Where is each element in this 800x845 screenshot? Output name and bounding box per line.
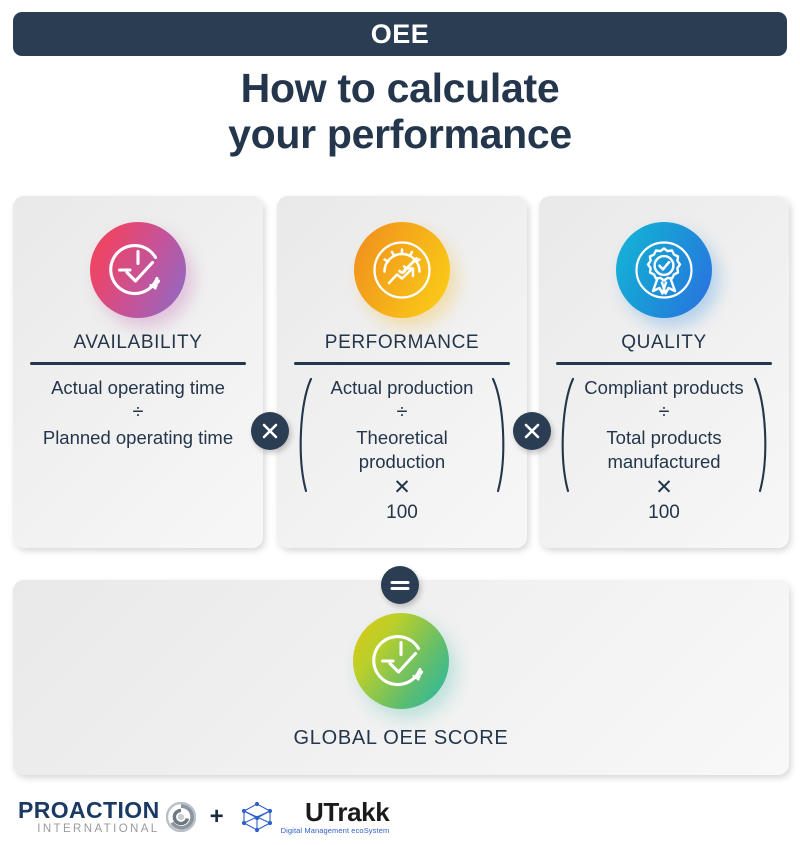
paren-right-icon	[489, 376, 511, 473]
utrakk-tagline: Digital Management ecoSystem	[281, 827, 390, 835]
paren-left-icon	[555, 376, 577, 473]
global-oee-score-label: GLOBAL OEE SCORE	[294, 727, 509, 750]
numerator: Actual production	[331, 376, 474, 399]
multiply-symbol: ✕	[655, 475, 673, 500]
proaction-spiral-icon	[166, 802, 196, 832]
clock-check-icon	[90, 222, 186, 318]
formula-availability: Actual operating time ÷ Planned operatin…	[29, 376, 247, 538]
metric-card-availability: AVAILABILITY Actual operating time ÷ Pla…	[13, 196, 263, 548]
performance-icon-wrap	[347, 214, 457, 326]
multiply-symbol: ✕	[393, 475, 411, 500]
fraction-body: Actual operating time ÷ Planned operatin…	[29, 376, 247, 450]
metric-card-quality: QUALITY Compliant products ÷ Total produ…	[539, 196, 789, 548]
clock-check-icon	[353, 613, 449, 709]
multiply-icon	[522, 421, 542, 441]
card-label-quality: QUALITY	[621, 332, 707, 354]
utrakk-wordmark: UTrakk Digital Management ecoSystem	[281, 799, 390, 835]
divide-symbol: ÷	[659, 399, 670, 426]
card-divider	[30, 362, 246, 365]
numerator: Compliant products	[584, 376, 743, 399]
fraction-body: Actual production ÷ Theoretical producti…	[315, 376, 489, 473]
denominator: Planned operating time	[43, 426, 233, 449]
equals-icon	[389, 577, 411, 593]
fraction-row: Actual production ÷ Theoretical producti…	[293, 376, 511, 473]
multiply-operator-badge-1	[251, 412, 289, 450]
page-headline: How to calculate your performance	[0, 66, 800, 158]
denominator: Theoretical production	[315, 426, 489, 473]
multiplier-value: 100	[386, 501, 418, 525]
card-divider	[294, 362, 510, 365]
multiplier-value: 100	[648, 501, 680, 525]
fraction-row: Compliant products ÷ Total products manu…	[555, 376, 773, 473]
multiply-operator-badge-2	[513, 412, 551, 450]
metric-cards-row: AVAILABILITY Actual operating time ÷ Pla…	[0, 196, 800, 548]
metric-card-performance: PERFORMANCE Actual production ÷ Theoreti…	[277, 196, 527, 548]
quality-icon-wrap	[609, 214, 719, 326]
multiply-icon	[260, 421, 280, 441]
proaction-logo: PROACTION INTERNATIONAL	[18, 799, 196, 836]
formula-quality: Compliant products ÷ Total products manu…	[555, 376, 773, 538]
award-ribbon-check-icon	[616, 222, 712, 318]
paren-right-icon	[751, 376, 773, 473]
proaction-name: PROACTION	[18, 799, 160, 822]
global-icon-wrap	[346, 605, 456, 717]
divide-symbol: ÷	[133, 399, 144, 426]
global-oee-score-card: GLOBAL OEE SCORE	[13, 580, 789, 775]
oee-header-badge: OEE	[13, 12, 787, 56]
fraction-row: Actual operating time ÷ Planned operatin…	[29, 376, 247, 450]
header-title: OEE	[371, 19, 430, 50]
card-label-performance: PERFORMANCE	[325, 332, 479, 354]
card-divider	[556, 362, 772, 365]
denominator: Total products manufactured	[577, 426, 751, 473]
utrakk-logo: UTrakk Digital Management ecoSystem	[238, 799, 390, 835]
equals-operator-badge	[381, 566, 419, 604]
plus-separator: +	[210, 803, 224, 831]
utrakk-name: UTrakk	[305, 799, 389, 825]
numerator: Actual operating time	[51, 376, 225, 399]
availability-icon-wrap	[83, 214, 193, 326]
card-label-availability: AVAILABILITY	[74, 332, 203, 354]
headline-line-2: your performance	[0, 112, 800, 158]
divide-symbol: ÷	[397, 399, 408, 426]
proaction-wordmark: PROACTION INTERNATIONAL	[18, 799, 160, 836]
speedometer-icon	[354, 222, 450, 318]
headline-line-1: How to calculate	[0, 66, 800, 112]
utrakk-network-icon	[238, 800, 276, 834]
footer-logos: PROACTION INTERNATIONAL +	[18, 795, 389, 839]
proaction-tagline: INTERNATIONAL	[37, 824, 159, 836]
paren-left-icon	[293, 376, 315, 473]
formula-performance: Actual production ÷ Theoretical producti…	[293, 376, 511, 538]
fraction-body: Compliant products ÷ Total products manu…	[577, 376, 751, 473]
